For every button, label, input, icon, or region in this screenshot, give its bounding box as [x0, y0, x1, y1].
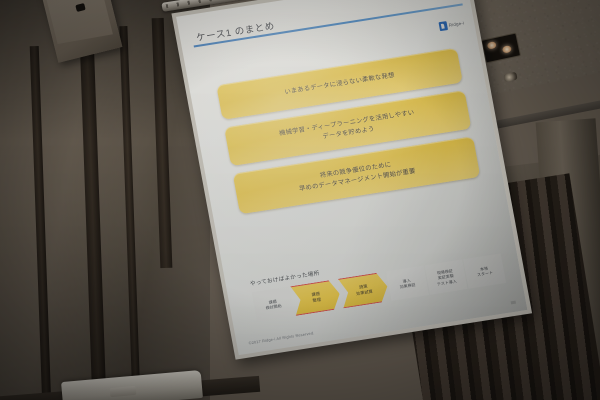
key-points-list: いまあるデータに浸らない柔軟な発想 機械学習・ディープラーニングを活用しやすいデ… — [216, 48, 480, 214]
process-step-highlighted: 課題整理 — [290, 279, 342, 316]
footer-mark — [511, 301, 516, 305]
key-point-text: 機械学習・ディープラーニングを活用しやすいデータを貯めよう — [278, 108, 417, 148]
process-step-highlighted: 施策効果試算 — [338, 272, 390, 309]
ridge-i-logo-icon — [438, 21, 448, 31]
process-step: 導入効果検証 — [386, 266, 429, 301]
presentation-slide: ケース1 のまとめ Ridge-i いまあるデータに浸らない柔軟な発想 機械学習… — [176, 0, 527, 355]
slide-title-block: ケース1 のまとめ — [195, 0, 456, 44]
brand-logo: Ridge-i — [438, 18, 465, 31]
screen-surface: ケース1 のまとめ Ridge-i いまあるデータに浸らない柔軟な発想 機械学習… — [171, 0, 532, 360]
slide-footer: ©2017 Ridge-i All Rights Reserved. — [248, 331, 314, 345]
key-point-text: 将来の競争優位のために早めのデータマネージメント開始が重要 — [297, 157, 417, 194]
process-step: 本格スタート — [463, 253, 506, 288]
process-step: 課題検討開始 — [252, 286, 295, 321]
projector-screen: ケース1 のまとめ Ridge-i いまあるデータに浸らない柔軟な発想 機械学習… — [168, 0, 562, 372]
process-step: 現場検証実証実験テスト導入 — [424, 259, 467, 294]
conference-room-photo: ケース1 のまとめ Ridge-i いまあるデータに浸らない柔軟な発想 機械学習… — [0, 0, 600, 400]
page-title: ケース1 のまとめ — [195, 0, 456, 44]
key-point-text: いまあるデータに浸らない柔軟な発想 — [284, 70, 396, 97]
logo-text: Ridge-i — [448, 20, 464, 27]
process-flow-section: やっておけばよかった場所 課題検討開始 課題整理 施策効果試算 導入効果検証 現… — [249, 241, 506, 322]
